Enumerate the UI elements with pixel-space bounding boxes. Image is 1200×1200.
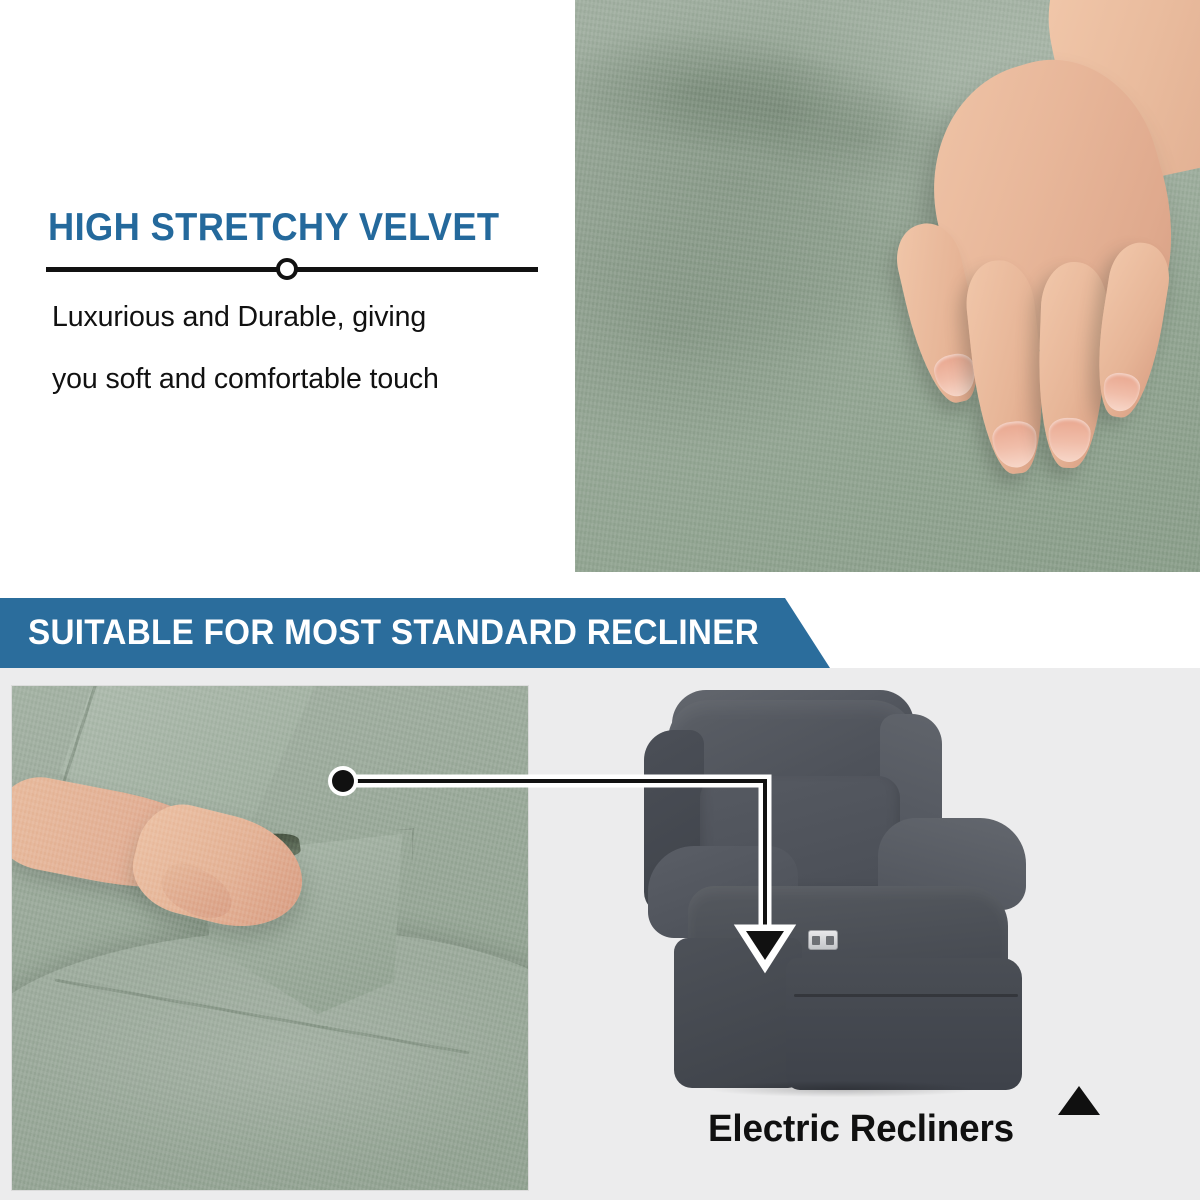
- banner-title: SUITABLE FOR MOST STANDARD RECLINER: [28, 613, 759, 653]
- chair-base-front: [786, 958, 1022, 1090]
- page-title: HIGH STRETCHY VELVET: [48, 206, 513, 250]
- hand-graphic: [843, 0, 1200, 470]
- velvet-nap-texture: [12, 686, 528, 1190]
- top-feature-section: HIGH STRETCHY VELVET Luxurious and Durab…: [0, 0, 1200, 578]
- pocket-detail-photo: [11, 685, 529, 1191]
- velvet-fabric-photo: [575, 0, 1200, 572]
- circle-divider-icon: [276, 258, 298, 280]
- recliner-label: Electric Recliners: [708, 1108, 1014, 1151]
- subtitle-line-2: you soft and comfortable touch: [52, 363, 562, 396]
- fingernail: [1100, 371, 1142, 414]
- finger-ring: [1035, 261, 1108, 469]
- control-button-power[interactable]: [826, 936, 834, 945]
- recliner-chair-graphic: [602, 686, 1042, 1086]
- section-banner: SUITABLE FOR MOST STANDARD RECLINER: [0, 598, 840, 668]
- control-panel[interactable]: [808, 930, 838, 950]
- subtitle-line-1: Luxurious and Durable, giving: [52, 301, 562, 334]
- recliner-photo: Electric Recliners: [530, 668, 1200, 1200]
- control-button-recline[interactable]: [812, 936, 820, 945]
- triangle-up-icon: [1058, 1086, 1100, 1115]
- fingernail: [991, 419, 1040, 469]
- chair-shadow: [662, 1078, 1022, 1100]
- fingernail: [1048, 417, 1092, 462]
- chair-footrest-seam: [794, 994, 1018, 997]
- top-copy-block: HIGH STRETCHY VELVET Luxurious and Durab…: [0, 0, 575, 578]
- bottom-feature-section: Electric Recliners: [0, 668, 1200, 1200]
- chair-base-left: [674, 938, 802, 1088]
